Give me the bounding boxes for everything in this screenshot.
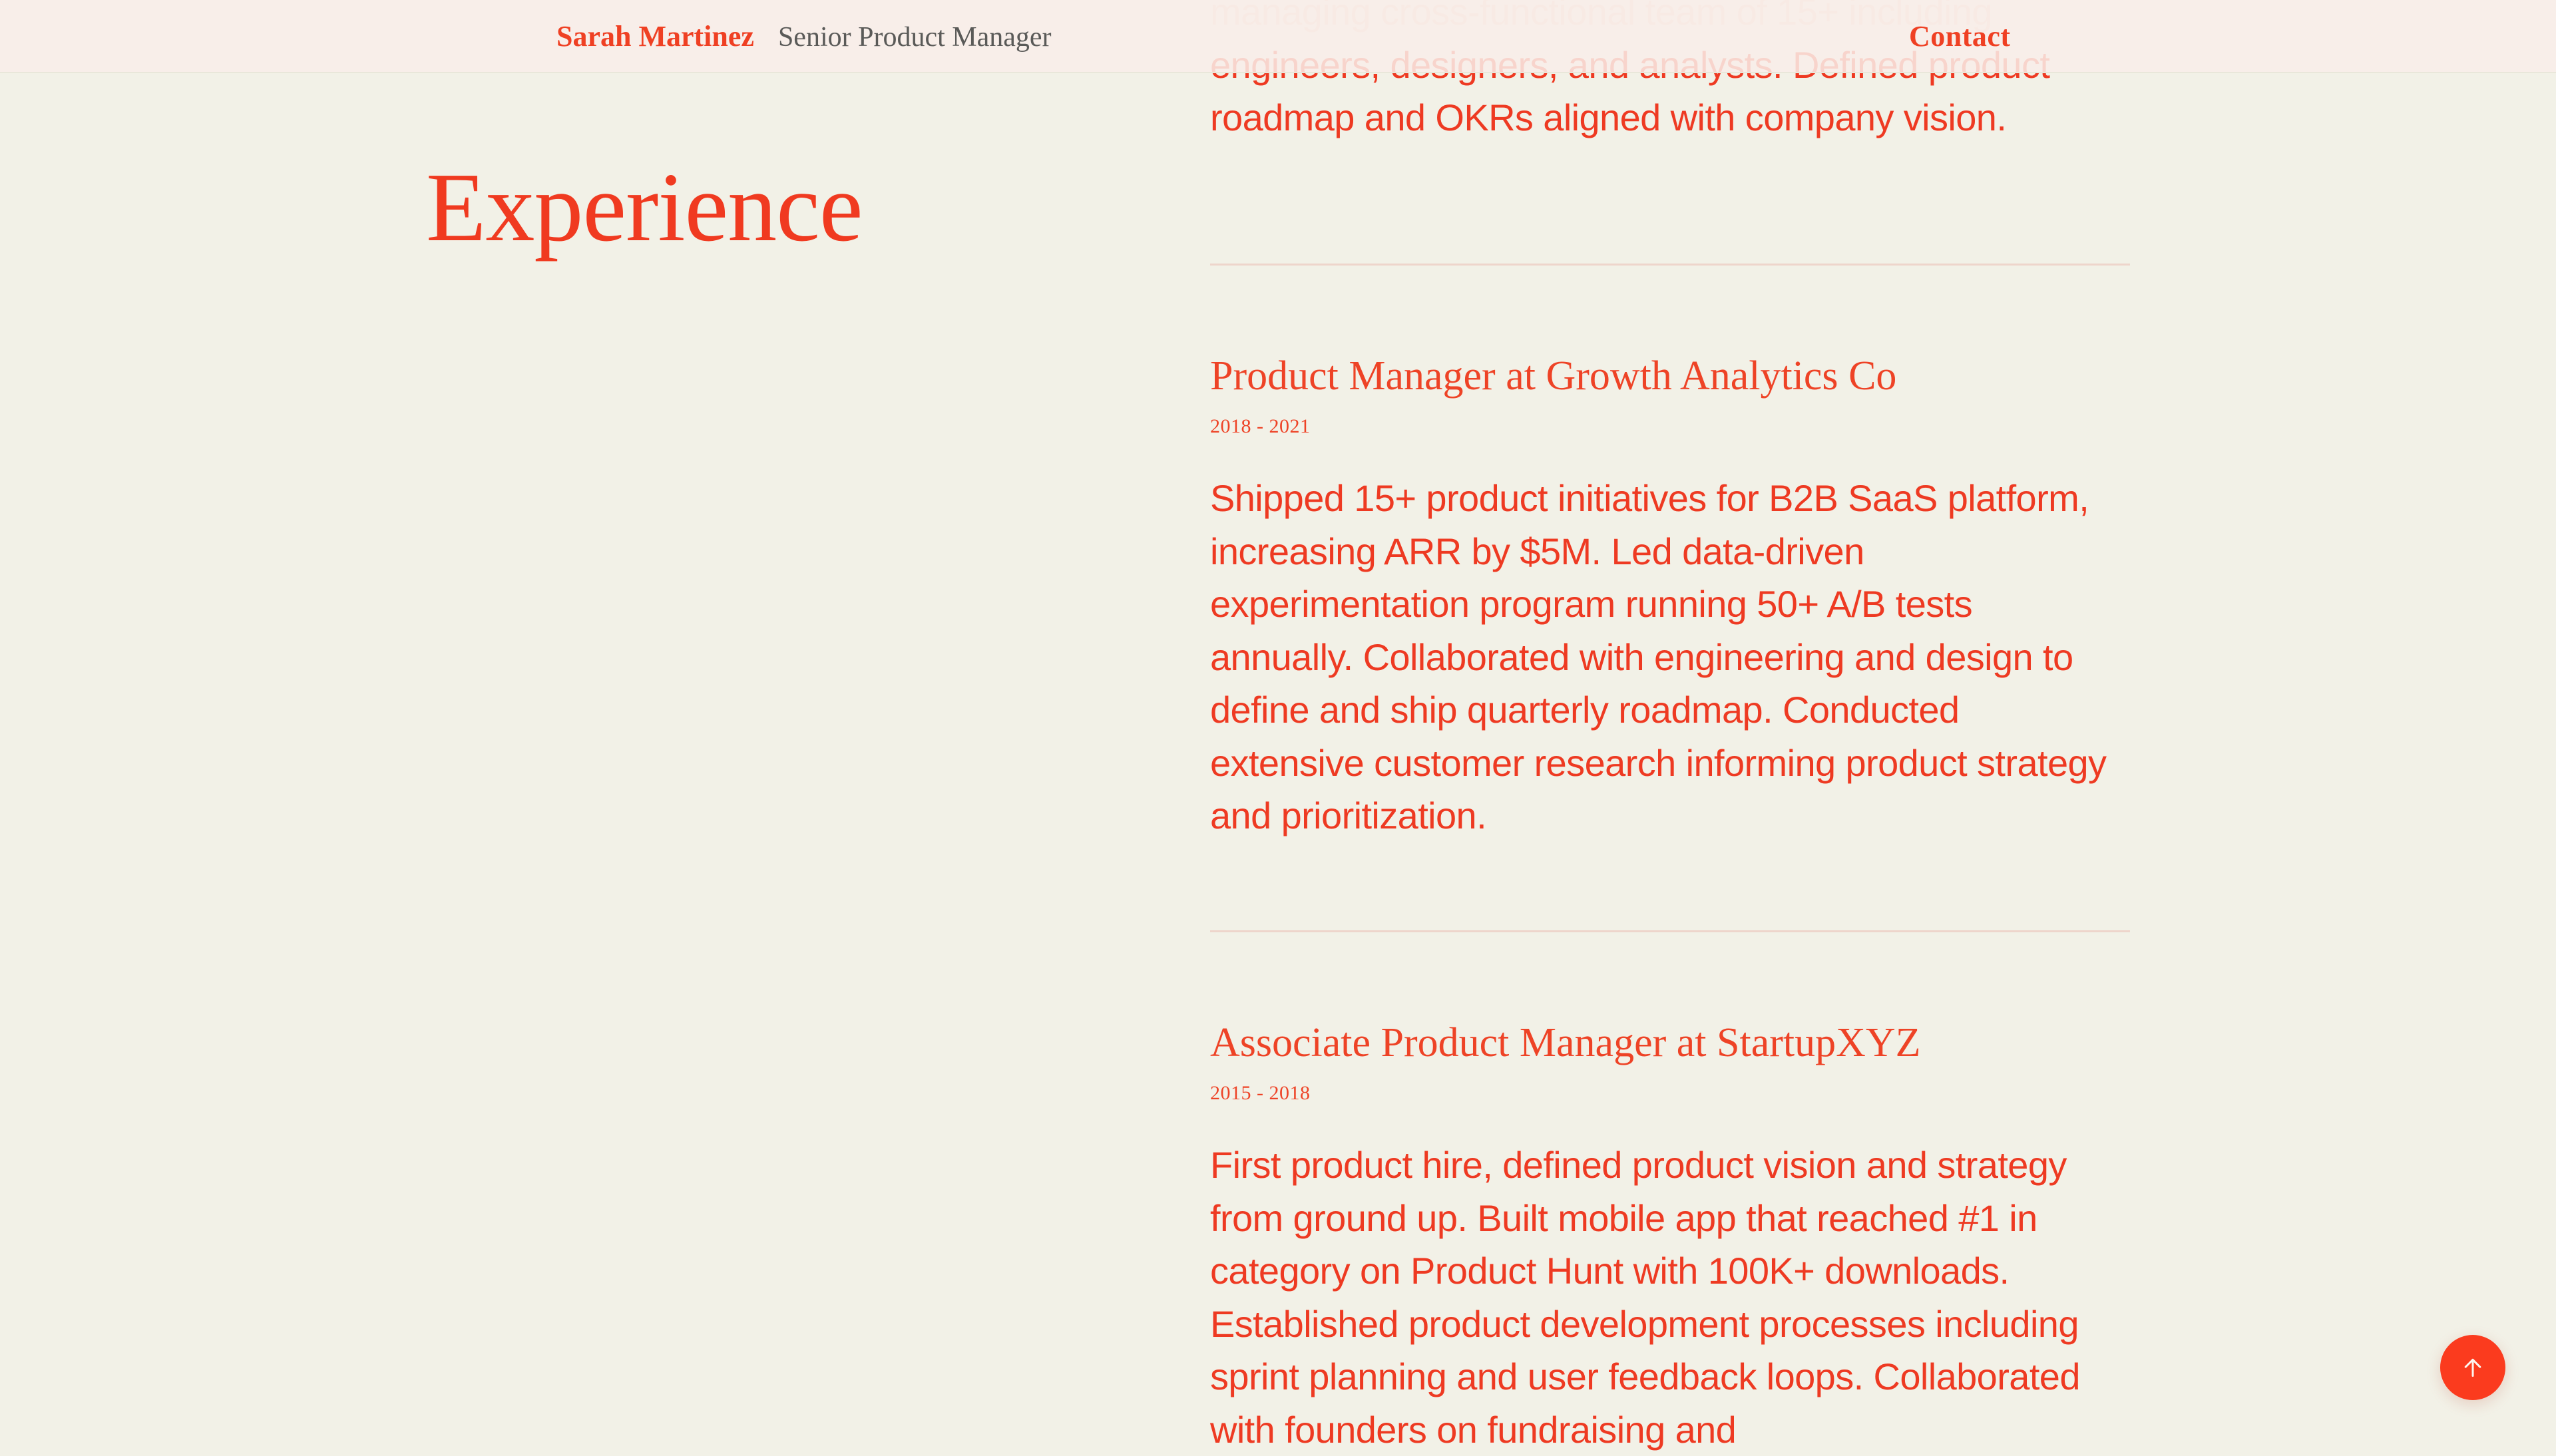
arrow-up-icon (2459, 1354, 2486, 1381)
job-dates: 2015 - 2018 (1210, 1081, 2130, 1105)
job-description: Shipped 15+ product initiatives for B2B … (1210, 472, 2115, 842)
site-header: Sarah Martinez Senior Product Manager Co… (0, 0, 2556, 73)
brand-role: Senior Product Manager (778, 21, 1052, 53)
entry-divider (1210, 264, 2130, 266)
nav-link-contact[interactable]: Contact (1909, 19, 2011, 53)
experience-entry: Product Manager at Growth Analytics Co 2… (1210, 353, 2130, 842)
page-title: Experience (426, 158, 1092, 257)
job-dates: 2018 - 2021 (1210, 415, 2130, 439)
job-title: Product Manager at Growth Analytics Co (1210, 353, 2130, 400)
entry-divider (1210, 930, 2130, 932)
job-title: Associate Product Manager at StartupXYZ (1210, 1019, 2130, 1067)
brand-name[interactable]: Sarah Martinez (556, 19, 754, 53)
job-description: First product hire, defined product visi… (1210, 1139, 2115, 1456)
experience-entry: Associate Product Manager at StartupXYZ … (1210, 1019, 2130, 1456)
main-nav: Contact (1909, 19, 2556, 53)
page-content: Experience managing cross-functional tea… (0, 0, 2556, 1437)
scroll-to-top-button[interactable] (2440, 1335, 2505, 1400)
experience-heading-column: Experience (426, 158, 1092, 257)
brand[interactable]: Sarah Martinez Senior Product Manager (556, 19, 1052, 53)
